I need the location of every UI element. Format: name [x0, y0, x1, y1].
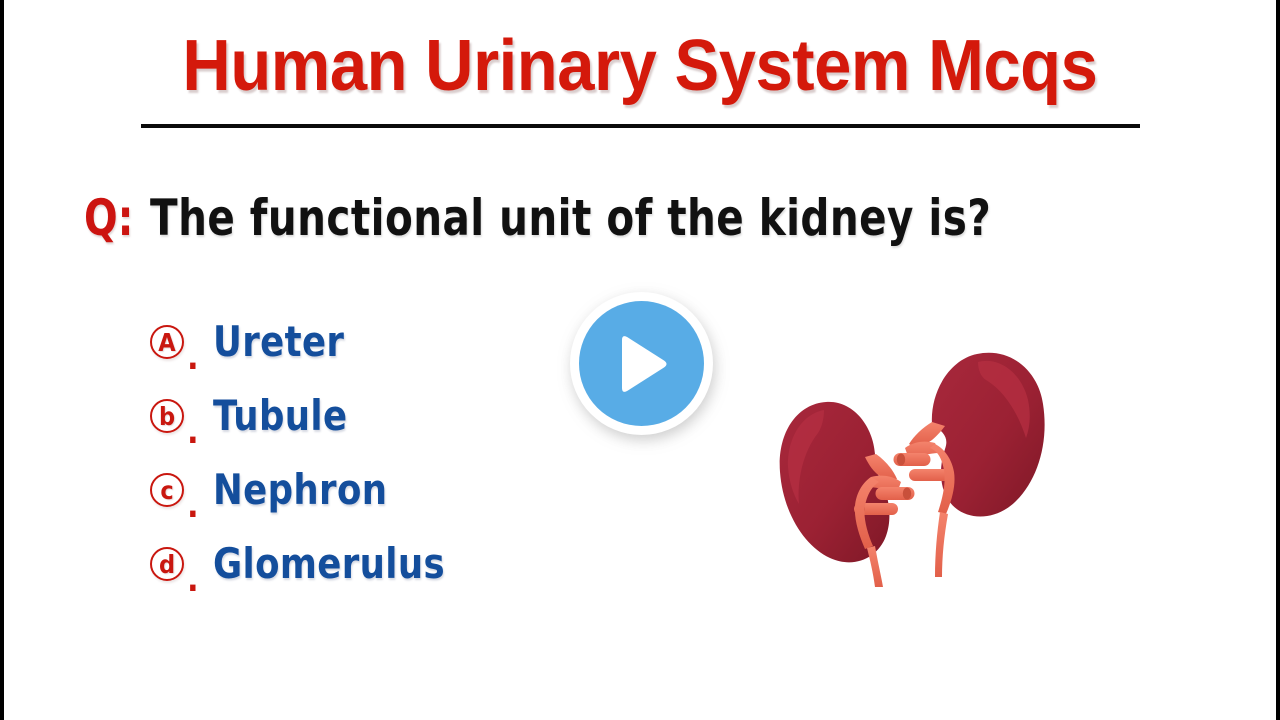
option-label-a[interactable]: Ureter [213, 319, 344, 365]
option-dot-d: . [187, 563, 199, 601]
option-label-b[interactable]: Tubule [213, 393, 347, 439]
option-dot-a: . [187, 341, 199, 379]
option-row-d[interactable]: d . Glomerulus [150, 527, 459, 601]
option-row-b[interactable]: b . Tubule [150, 379, 459, 453]
option-row-a[interactable]: A . Ureter [150, 305, 459, 379]
play-button-disc [579, 301, 704, 426]
letterbox-left [0, 0, 4, 720]
question-row: Q: The functional unit of the kidney is? [84, 190, 1085, 246]
option-label-d[interactable]: Glomerulus [213, 541, 445, 587]
quiz-slide: Human Urinary System Mcqs Q: The functio… [0, 0, 1280, 720]
play-icon [614, 333, 670, 395]
letterbox-right [1276, 0, 1280, 720]
option-badge-b[interactable]: b [150, 399, 184, 433]
option-badge-d[interactable]: d [150, 547, 184, 581]
option-badge-a[interactable]: A [150, 325, 184, 359]
kidneys-illustration [772, 322, 1062, 587]
option-dot-c: . [187, 489, 199, 527]
option-badge-c[interactable]: c [150, 473, 184, 507]
option-dot-b: . [187, 415, 199, 453]
option-label-c[interactable]: Nephron [213, 467, 387, 513]
options-list: A . Ureter b . Tubule c . Nephron d . Gl… [150, 305, 459, 601]
title-divider [141, 124, 1140, 128]
play-button[interactable] [570, 292, 713, 435]
question-marker: Q: [84, 190, 133, 246]
question-text: The functional unit of the kidney is? [150, 190, 991, 246]
page-title: Human Urinary System Mcqs [0, 26, 1280, 106]
option-row-c[interactable]: c . Nephron [150, 453, 459, 527]
page-title-text: Human Urinary System Mcqs [183, 26, 1098, 106]
